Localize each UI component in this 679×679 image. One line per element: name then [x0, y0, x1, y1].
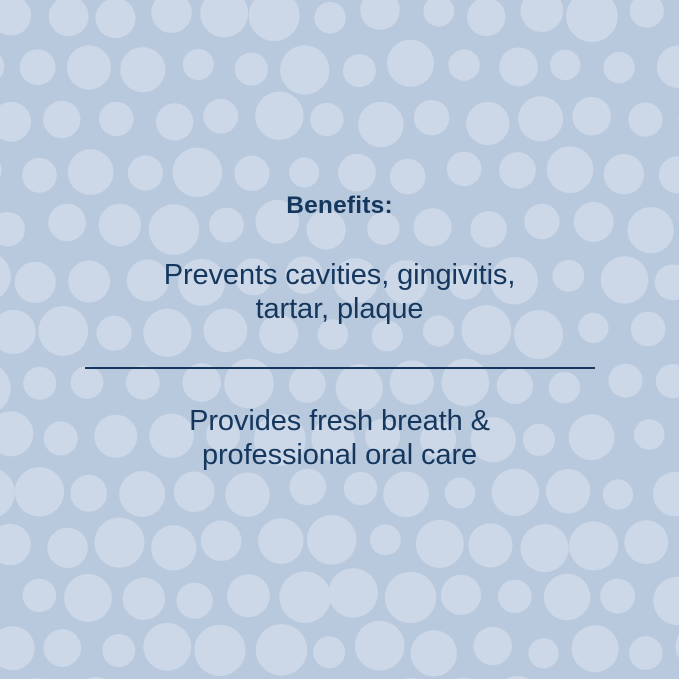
- benefits-panel: Benefits: Prevents cavities, gingivitis,…: [0, 0, 679, 679]
- benefit-line: tartar, plaque: [125, 292, 555, 326]
- benefits-content: Benefits: Prevents cavities, gingivitis,…: [0, 0, 679, 679]
- page-title: Benefits:: [0, 193, 679, 220]
- benefit-item: Provides fresh breath & professional ora…: [125, 404, 555, 472]
- benefit-line: Provides fresh breath &: [125, 404, 555, 438]
- benefit-item: Prevents cavities, gingivitis, tartar, p…: [125, 258, 555, 326]
- benefit-line: Prevents cavities, gingivitis,: [125, 258, 555, 292]
- section-divider: [85, 367, 595, 369]
- benefit-line: professional oral care: [125, 438, 555, 472]
